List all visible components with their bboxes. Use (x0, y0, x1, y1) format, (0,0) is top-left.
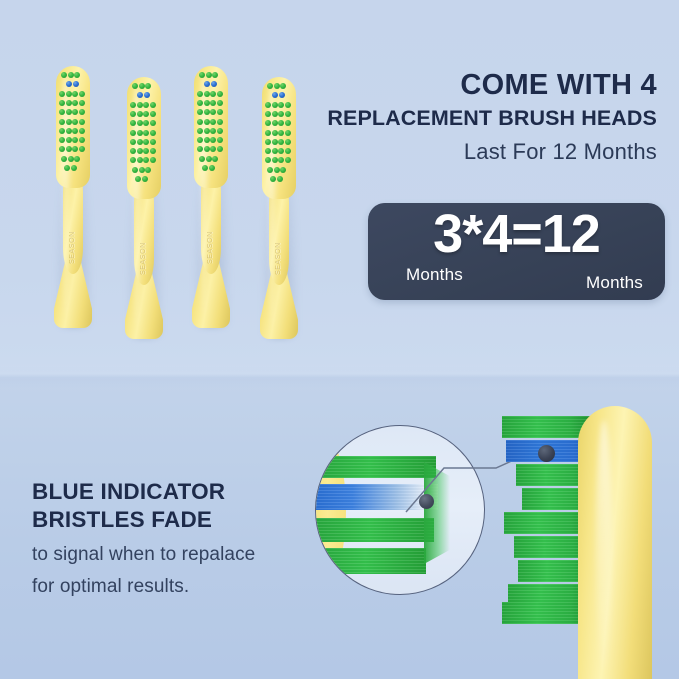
bristle-dot-green (143, 111, 149, 117)
brush-head: SEASON (50, 66, 96, 328)
bristle-dot-green (59, 146, 65, 152)
bristle-dot-green (278, 102, 284, 108)
bristle-dot-green (59, 100, 65, 106)
bristle-field (130, 83, 158, 191)
bristle-dot-green (278, 139, 284, 145)
bristle-dot-green (265, 102, 271, 108)
bristle-dot-green (197, 109, 203, 115)
equation-months-left-label: Months (406, 265, 463, 285)
bristle-dot-green (217, 109, 223, 115)
bristle-dot-green (204, 100, 210, 106)
bristle-dot-green (135, 176, 141, 182)
bristle-dot-green (199, 72, 205, 78)
bristle-dot-green (61, 72, 67, 78)
bristle-dot-green (72, 119, 78, 125)
bristle-dot-green (274, 167, 280, 173)
bristle-dot-green (150, 130, 156, 136)
bristle-dot-green (79, 91, 85, 97)
magnifier-bristle-tip (424, 462, 450, 564)
magnifier-bristle-row-green (316, 456, 436, 478)
bristle-dot-green (71, 165, 77, 171)
bristle-dot-green (66, 137, 72, 143)
bristle-dot-green (72, 128, 78, 134)
bristle-dot-green (79, 146, 85, 152)
brand-logo-emboss: SEASON (61, 216, 85, 280)
bristle-dot-green (139, 167, 145, 173)
bristle-dot-green (139, 83, 145, 89)
bristle-dot-green (204, 137, 210, 143)
bristle-dot-green (68, 156, 74, 162)
bristle-dot-green (265, 148, 271, 154)
bristle-dot-green (66, 100, 72, 106)
bristle-dot-green (212, 72, 218, 78)
headline-primary: COME WITH 4 (305, 70, 657, 101)
bristle-dot-green (66, 91, 72, 97)
indicator-subtitle-line-2: for optimal results. (32, 574, 312, 599)
bristle-dot-green (66, 128, 72, 134)
enlarged-brush-head (492, 398, 679, 679)
bristle-dot-green (143, 139, 149, 145)
bristle-dot-green (74, 156, 80, 162)
bristle-dot-green (150, 148, 156, 154)
bristle-dot-green (130, 111, 136, 117)
bristle-dot-green (285, 130, 291, 136)
bristle-dot-green (280, 83, 286, 89)
bristle-dot-green (79, 128, 85, 134)
bristle-dot-green (137, 157, 143, 163)
bristle-dot-green (272, 120, 278, 126)
bristle-dot-green (59, 119, 65, 125)
headline-tertiary: Last For 12 Months (305, 138, 657, 167)
bristle-dot-green (210, 137, 216, 143)
bristle-dot-green (217, 128, 223, 134)
bristle-dot-green (210, 91, 216, 97)
bristle-dot-green (137, 148, 143, 154)
bristle-dot-green (210, 100, 216, 106)
bristle-dot-green (72, 109, 78, 115)
bristle-dot-blue (211, 81, 217, 87)
bristle-dot-green (210, 128, 216, 134)
equation-badge: 3*4=12 Months Months (368, 203, 665, 300)
brand-logo-emboss: SEASON (267, 227, 291, 291)
bristle-dot-green (265, 157, 271, 163)
bristle-dot-green (130, 102, 136, 108)
bristle-dot-green (145, 167, 151, 173)
bristle-dot-green (272, 148, 278, 154)
bristle-dot-green (132, 83, 138, 89)
indicator-copy-block: BLUE INDICATOR BRISTLES FADE to signal w… (32, 478, 312, 599)
headline-block: COME WITH 4 REPLACEMENT BRUSH HEADS Last… (305, 70, 657, 167)
bristle-dot-green (150, 111, 156, 117)
bristle-dot-green (197, 100, 203, 106)
bristle-dot-green (210, 146, 216, 152)
bristle-dot-green (72, 137, 78, 143)
bristle-dot-green (66, 146, 72, 152)
bristle-dot-green (202, 165, 208, 171)
product-infographic: SEASON SEASON SEASON (0, 0, 679, 679)
bristle-dot-green (267, 167, 273, 173)
bristle-dot-green (278, 130, 284, 136)
bristle-dot-green (265, 120, 271, 126)
bristle-dot-green (66, 109, 72, 115)
bristle-dot-blue (73, 81, 79, 87)
bristle-dot-green (137, 120, 143, 126)
bristle-dot-green (217, 137, 223, 143)
bristle-dot-green (143, 120, 149, 126)
bristle-dot-green (204, 91, 210, 97)
bristle-dot-green (79, 100, 85, 106)
brush-head: SEASON (188, 66, 234, 328)
bristle-dot-green (285, 120, 291, 126)
bristle-dot-green (59, 137, 65, 143)
bristle-dot-green (278, 148, 284, 154)
bristle-dot-green (132, 167, 138, 173)
bristle-dot-green (130, 139, 136, 145)
bristle-dot-green (265, 139, 271, 145)
bristle-dot-green (217, 119, 223, 125)
indicator-title-line-2: BRISTLES FADE (32, 506, 312, 534)
bristle-dot-green (210, 119, 216, 125)
magnifier-bristle-rows (316, 426, 484, 594)
bristle-dot-green (79, 109, 85, 115)
bristle-dot-green (285, 102, 291, 108)
bristle-dot-green (272, 139, 278, 145)
bristle-dot-green (150, 120, 156, 126)
panel-divider (0, 362, 679, 388)
equation-months-right-label: Months (586, 273, 643, 293)
bristle-dot-green (64, 165, 70, 171)
bristle-dot-green (72, 91, 78, 97)
equation-formula: 3*4=12 (368, 207, 665, 261)
bristle-field (265, 83, 293, 191)
bristle-dot-green (197, 137, 203, 143)
bristle-dot-green (199, 156, 205, 162)
enlarged-handle-gloss (596, 420, 612, 670)
indicator-dot-magnified (419, 494, 434, 509)
bristle-dot-green (197, 128, 203, 134)
bristle-dot-green (68, 72, 74, 78)
bristle-dot-blue (137, 92, 143, 98)
bristle-dot-blue (144, 92, 150, 98)
bristle-dot-green (130, 148, 136, 154)
bristle-dot-green (150, 139, 156, 145)
brush-head: SEASON (256, 77, 302, 339)
bristle-dot-green (274, 83, 280, 89)
bristle-dot-green (272, 157, 278, 163)
bristle-dot-green (206, 156, 212, 162)
bristle-dot-green (210, 109, 216, 115)
brush-heads-group: SEASON SEASON SEASON (22, 58, 322, 348)
bristle-dot-green (143, 130, 149, 136)
bristle-dot-green (130, 120, 136, 126)
bristle-dot-green (137, 111, 143, 117)
indicator-subtitle-line-1: to signal when to repalace (32, 542, 312, 567)
bristle-dot-green (278, 157, 284, 163)
bristle-field (59, 72, 87, 180)
enlarged-bristle-row-green (502, 416, 590, 438)
bristle-dot-green (145, 83, 151, 89)
bristle-dot-blue (66, 81, 72, 87)
bristle-dot-green (209, 165, 215, 171)
bristle-dot-green (79, 119, 85, 125)
bristle-field (197, 72, 225, 180)
bristle-dot-green (212, 156, 218, 162)
magnifier-bristle-row-green (316, 548, 426, 574)
magnifier-circle (315, 425, 485, 595)
bristle-dot-green (204, 128, 210, 134)
bristle-dot-green (272, 102, 278, 108)
bristle-dot-green (285, 111, 291, 117)
bristle-dot-green (217, 91, 223, 97)
magnifier-bristle-row-green (316, 518, 434, 542)
bristle-dot-green (265, 111, 271, 117)
bristle-dot-green (137, 102, 143, 108)
bristle-dot-green (206, 72, 212, 78)
bristle-dot-blue (272, 92, 278, 98)
bristle-dot-green (272, 111, 278, 117)
enlarged-brush-handle (578, 406, 652, 679)
bristle-dot-green (278, 111, 284, 117)
bristle-dot-green (130, 157, 136, 163)
enlarged-bristle-row-green (502, 602, 590, 624)
bristle-dot-green (72, 100, 78, 106)
bristle-dot-green (277, 176, 283, 182)
indicator-dot (538, 445, 555, 462)
bristle-dot-green (150, 102, 156, 108)
indicator-title-line-1: BLUE INDICATOR (32, 478, 312, 506)
bristle-dot-green (74, 72, 80, 78)
bristle-dot-green (285, 139, 291, 145)
bristle-dot-green (79, 137, 85, 143)
headline-secondary: REPLACEMENT BRUSH HEADS (305, 105, 657, 132)
bristle-dot-green (204, 119, 210, 125)
bristle-dot-green (265, 130, 271, 136)
bristle-dot-green (285, 157, 291, 163)
bristle-dot-green (217, 146, 223, 152)
bristle-dot-green (61, 156, 67, 162)
bristle-dot-green (142, 176, 148, 182)
bristle-dot-green (72, 146, 78, 152)
bristle-dot-green (204, 109, 210, 115)
bristle-dot-green (137, 139, 143, 145)
bristle-dot-green (150, 157, 156, 163)
bristle-dot-green (197, 119, 203, 125)
brand-logo-emboss: SEASON (132, 227, 156, 291)
brand-logo-emboss: SEASON (199, 216, 223, 280)
bristle-dot-green (143, 102, 149, 108)
bristle-dot-green (59, 128, 65, 134)
bristle-dot-blue (204, 81, 210, 87)
bristle-dot-green (197, 91, 203, 97)
bristle-dot-green (272, 130, 278, 136)
bristle-dot-green (66, 119, 72, 125)
bristle-dot-green (143, 157, 149, 163)
bristle-dot-green (143, 148, 149, 154)
bristle-dot-green (130, 130, 136, 136)
brush-head: SEASON (121, 77, 167, 339)
bristle-dot-green (204, 146, 210, 152)
bristle-dot-green (285, 148, 291, 154)
bristle-dot-green (197, 146, 203, 152)
bristle-dot-green (59, 91, 65, 97)
bristle-dot-blue (279, 92, 285, 98)
bristle-dot-green (270, 176, 276, 182)
bristle-dot-green (137, 130, 143, 136)
bristle-dot-green (59, 109, 65, 115)
bristle-dot-green (280, 167, 286, 173)
bristle-dot-green (267, 83, 273, 89)
bristle-dot-green (278, 120, 284, 126)
bristle-dot-green (217, 100, 223, 106)
